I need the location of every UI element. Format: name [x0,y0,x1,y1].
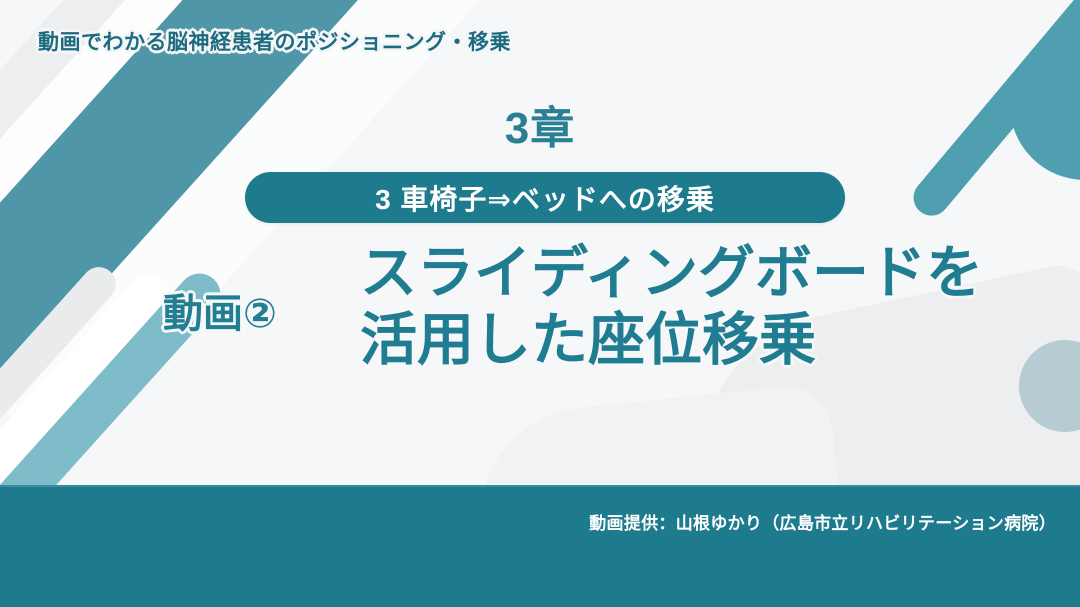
headline-line-1: スライディングボードを [360,240,920,307]
section-pill-label: 3 車椅子⇒ベッドへの移乗 [375,178,715,218]
footer-credit-text: 動画提供：山根ゆかり（広島市立リハビリテーション病院） [589,509,1056,534]
headline: スライディングボードを 活用した座位移乗 [360,240,920,375]
footer-bar: 動画提供：山根ゆかり（広島市立リハビリテーション病院） [0,485,1080,607]
section-pill: 3 車椅子⇒ベッドへの移乗 [245,172,845,223]
title-slide: 動画でわかる脳神経患者のポジショニング・移乗 3章 3 車椅子⇒ベッドへの移乗 … [0,0,1080,607]
video-number-badge: 動画② [163,281,277,339]
series-title: 動画でわかる脳神経患者のポジショニング・移乗 [38,26,511,56]
headline-line-2: 活用した座位移乗 [360,307,920,374]
chapter-label: 3章 [0,92,1080,156]
